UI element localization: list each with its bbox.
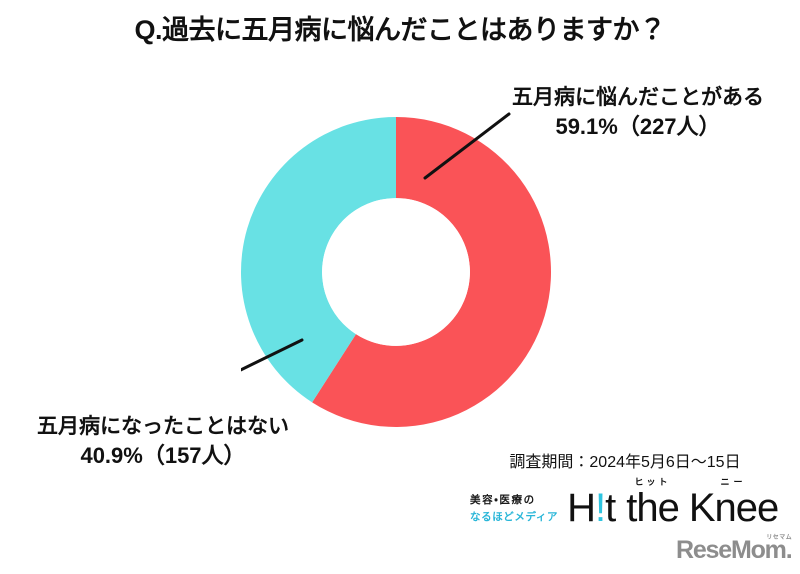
- brand-tagline-line2: なるほどメディア: [470, 509, 558, 524]
- wordmark-h: H: [567, 488, 595, 528]
- wordmark-knee-group: ニー Knee: [689, 488, 778, 528]
- wordmark-t: t: [605, 488, 615, 528]
- donut-slices: [241, 117, 551, 427]
- wordmark-knee-ruby: ニー: [689, 475, 778, 488]
- wordmark-knee: Knee: [689, 486, 778, 530]
- donut-chart: [241, 112, 551, 432]
- brand-tagline: 美容・医療の なるほどメディア: [470, 492, 558, 528]
- callout-no-text: 五月病になったことはない: [37, 415, 289, 438]
- brand-logo: 美容・医療の なるほどメディア H ! t ヒット the ニー Knee: [470, 480, 790, 528]
- callout-label-yes: 五月病に悩んだことがある 59.1%（227人）: [488, 84, 788, 141]
- callout-yes-value: 59.1%（227人）: [488, 112, 788, 141]
- brand-tagline-line1: 美容・医療の: [470, 492, 558, 507]
- callout-label-no: 五月病になったことはない 40.9%（157人）: [8, 413, 318, 470]
- page-title: Q.過去に五月病に悩んだことはありますか？: [0, 8, 800, 47]
- callout-no-value: 40.9%（157人）: [8, 441, 318, 470]
- survey-period-text: 調査期間：2024年5月6日〜15日: [460, 448, 790, 472]
- infographic-page: Q.過去に五月病に悩んだことはありますか？ 五月病に悩んだことがある 59.1%…: [0, 0, 800, 574]
- donut-chart-svg: [241, 112, 551, 432]
- brand-wordmark: H ! t ヒット the ニー Knee: [567, 488, 778, 528]
- resemom-watermark: ReseMom. リセマム: [676, 536, 796, 568]
- callout-yes-text: 五月病に悩んだことがある: [512, 86, 764, 109]
- watermark-ruby: リセマム: [766, 532, 792, 541]
- wordmark-the: the: [626, 486, 679, 530]
- donut-center-hole: [322, 198, 470, 346]
- wordmark-exclamation-icon: !: [595, 488, 605, 528]
- wordmark-the-group: ヒット the: [626, 488, 679, 528]
- wordmark-the-ruby: ヒット: [626, 475, 679, 488]
